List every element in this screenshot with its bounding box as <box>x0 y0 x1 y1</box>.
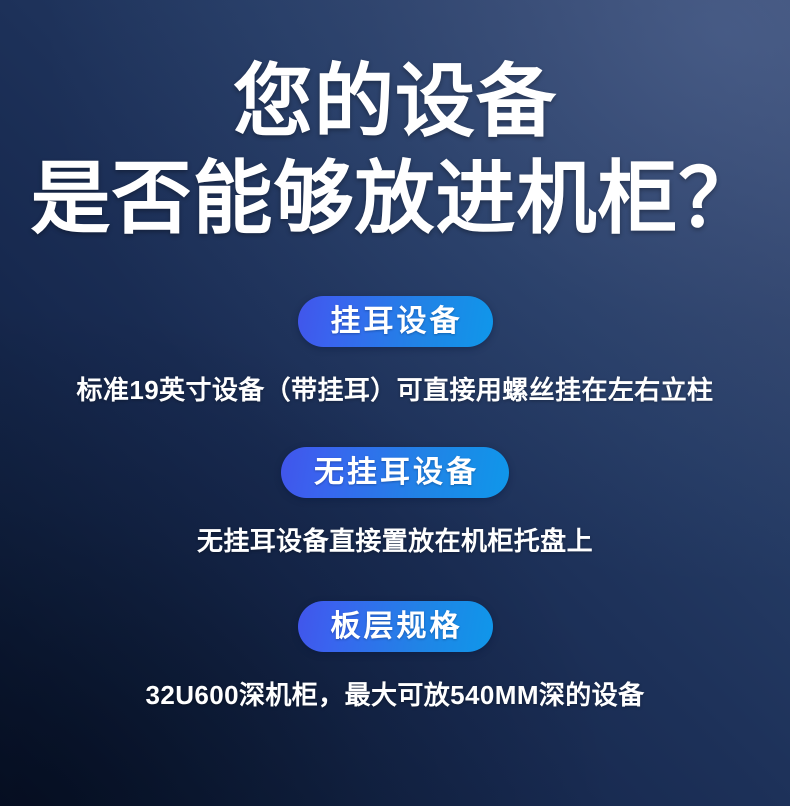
headline-line-1: 您的设备 <box>0 55 790 149</box>
banner-content: 您的设备 是否能够放进机柜？ 挂耳设备 标准19英寸设备（带挂耳）可直接用螺丝挂… <box>0 0 790 806</box>
feature-section-1: 挂耳设备 标准19英寸设备（带挂耳）可直接用螺丝挂在左右立柱 <box>0 296 790 407</box>
headline-line-2: 是否能够放进机柜？ <box>0 152 790 246</box>
description-shelf-spec: 32U600深机柜，最大可放540MM深的设备 <box>0 678 790 712</box>
feature-section-2: 无挂耳设备 无挂耳设备直接置放在机柜托盘上 <box>0 447 790 558</box>
promo-banner: 您的设备 是否能够放进机柜？ 挂耳设备 标准19英寸设备（带挂耳）可直接用螺丝挂… <box>0 0 790 806</box>
badge-no-mounting-ears: 无挂耳设备 <box>281 447 509 498</box>
description-mounting-ears: 标准19英寸设备（带挂耳）可直接用螺丝挂在左右立柱 <box>0 373 790 407</box>
feature-section-3: 板层规格 32U600深机柜，最大可放540MM深的设备 <box>0 601 790 712</box>
description-no-mounting-ears: 无挂耳设备直接置放在机柜托盘上 <box>0 524 790 558</box>
badge-mounting-ears: 挂耳设备 <box>298 296 493 347</box>
badge-shelf-spec: 板层规格 <box>298 601 493 652</box>
